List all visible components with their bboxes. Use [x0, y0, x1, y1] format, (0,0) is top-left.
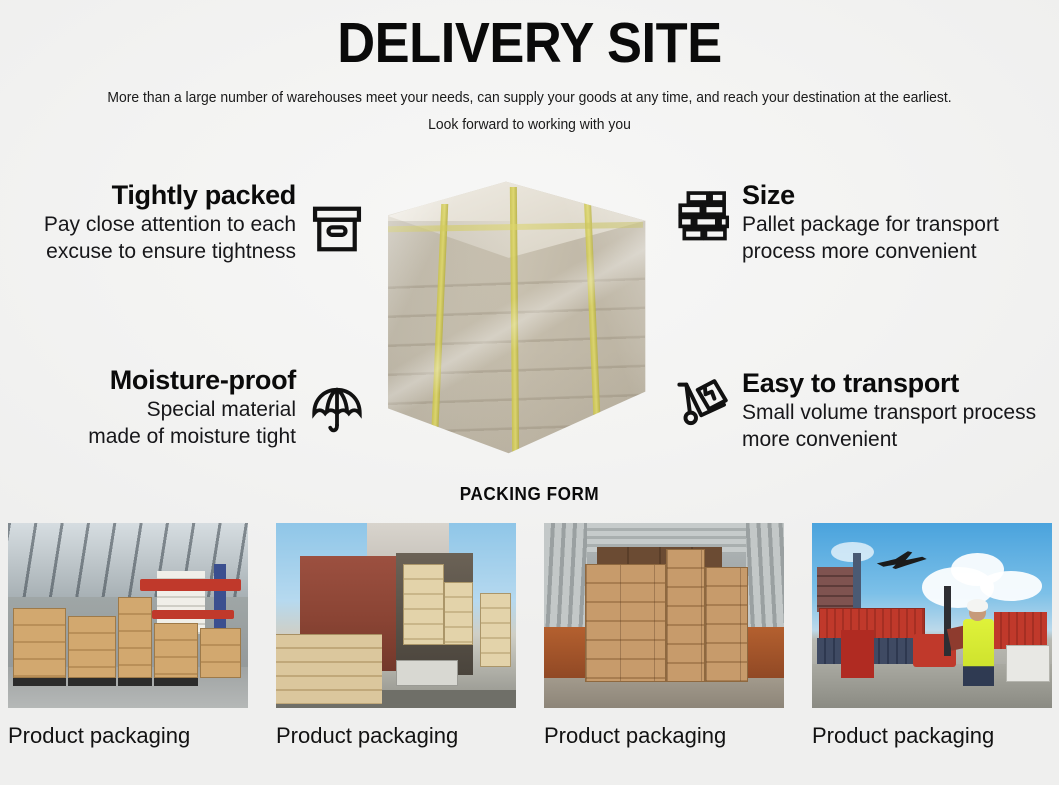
- carton-stack: [118, 597, 152, 678]
- carton-stack: [666, 549, 704, 682]
- container-loading-photo[interactable]: [276, 523, 516, 708]
- gallery-item[interactable]: Product packaging: [544, 523, 784, 747]
- container-rust-panel-left: [544, 627, 587, 683]
- feature-moisture-proof: Moisture-proof Special material made of …: [0, 365, 368, 449]
- brick-wall-icon: [672, 184, 734, 246]
- carton-stack-ground: [276, 634, 382, 704]
- worker-hard-hat: [967, 599, 989, 612]
- port-yard-photo[interactable]: [812, 523, 1052, 708]
- feature-desc-line2: process more convenient: [742, 240, 999, 264]
- gallery-caption: Product packaging: [544, 725, 784, 747]
- umbrella-icon: [306, 379, 368, 441]
- hand-truck-icon: [672, 372, 734, 434]
- truck: [1006, 645, 1049, 682]
- pallet-photo: [380, 176, 648, 456]
- carton-stack: [154, 623, 197, 679]
- feature-desc-line1: Special material: [88, 398, 296, 422]
- feature-size: Size Pallet package for transport proces…: [672, 180, 1059, 264]
- warehouse-interior-photo[interactable]: [8, 523, 248, 708]
- pallet-base: [154, 678, 197, 685]
- feature-title: Tightly packed: [44, 180, 296, 210]
- worker-safety-vest: [963, 619, 994, 686]
- feature-text: Easy to transport Small volume transport…: [734, 368, 1036, 452]
- pallet-base: [68, 678, 116, 685]
- feature-tightly-packed: Tightly packed Pay close attention to ea…: [0, 180, 368, 264]
- carton-stack: [444, 582, 473, 645]
- airplane-icon: [870, 549, 932, 571]
- archive-box-icon: [306, 198, 368, 260]
- carton-stack: [200, 628, 241, 678]
- gallery-item[interactable]: Product packaging: [812, 523, 1052, 747]
- gallery-item[interactable]: Product packaging: [8, 523, 248, 747]
- gallery-caption: Product packaging: [812, 725, 1052, 747]
- carton-stack: [585, 564, 667, 682]
- feature-title: Easy to transport: [742, 368, 1036, 398]
- loading-lift: [396, 660, 458, 686]
- pallet-base: [118, 678, 152, 685]
- feature-title: Size: [742, 180, 999, 210]
- feature-title: Moisture-proof: [88, 365, 296, 395]
- red-container: [994, 612, 1047, 649]
- packing-form-heading: PACKING FORM: [26, 484, 1032, 505]
- carton-stack: [403, 564, 444, 645]
- feature-text: Moisture-proof Special material made of …: [88, 365, 306, 449]
- rack-red: [140, 579, 241, 592]
- carton-stack: [705, 567, 748, 682]
- feature-desc-line2: made of moisture tight: [88, 425, 296, 449]
- feature-desc-line1: Small volume transport process: [742, 401, 1036, 425]
- gallery-caption: Product packaging: [276, 725, 516, 747]
- carton-stack: [13, 608, 66, 678]
- forklift: [841, 630, 875, 678]
- pallet-base: [13, 678, 66, 685]
- feature-desc-line2: excuse to ensure tightness: [44, 240, 296, 264]
- page-subtitle-line2: Look forward to working with you: [21, 117, 1038, 133]
- gallery-item[interactable]: Product packaging: [276, 523, 516, 747]
- page-header: DELIVERY SITE More than a large number o…: [0, 0, 1059, 133]
- rack-red: [152, 610, 234, 619]
- container-rust-panel-right: [746, 627, 784, 683]
- feature-desc-line2: more convenient: [742, 428, 1036, 452]
- container-floor: [544, 678, 784, 708]
- page-title: DELIVERY SITE: [42, 14, 1016, 74]
- container-interior-photo[interactable]: [544, 523, 784, 708]
- feature-text: Tightly packed Pay close attention to ea…: [44, 180, 306, 264]
- feature-desc-line1: Pallet package for transport: [742, 213, 999, 237]
- feature-text: Size Pallet package for transport proces…: [734, 180, 999, 264]
- wrapped-pallet-image: [380, 176, 648, 456]
- gallery-caption: Product packaging: [8, 725, 248, 747]
- carton-stack: [68, 616, 116, 679]
- page-subtitle-line1: More than a large number of warehouses m…: [21, 88, 1038, 108]
- feature-easy-to-transport: Easy to transport Small volume transport…: [672, 368, 1059, 452]
- feature-desc-line1: Pay close attention to each: [44, 213, 296, 237]
- cloud: [980, 571, 1042, 601]
- carton-stack: [480, 593, 511, 667]
- packing-form-gallery: Product packaging Product packaging: [8, 523, 1047, 747]
